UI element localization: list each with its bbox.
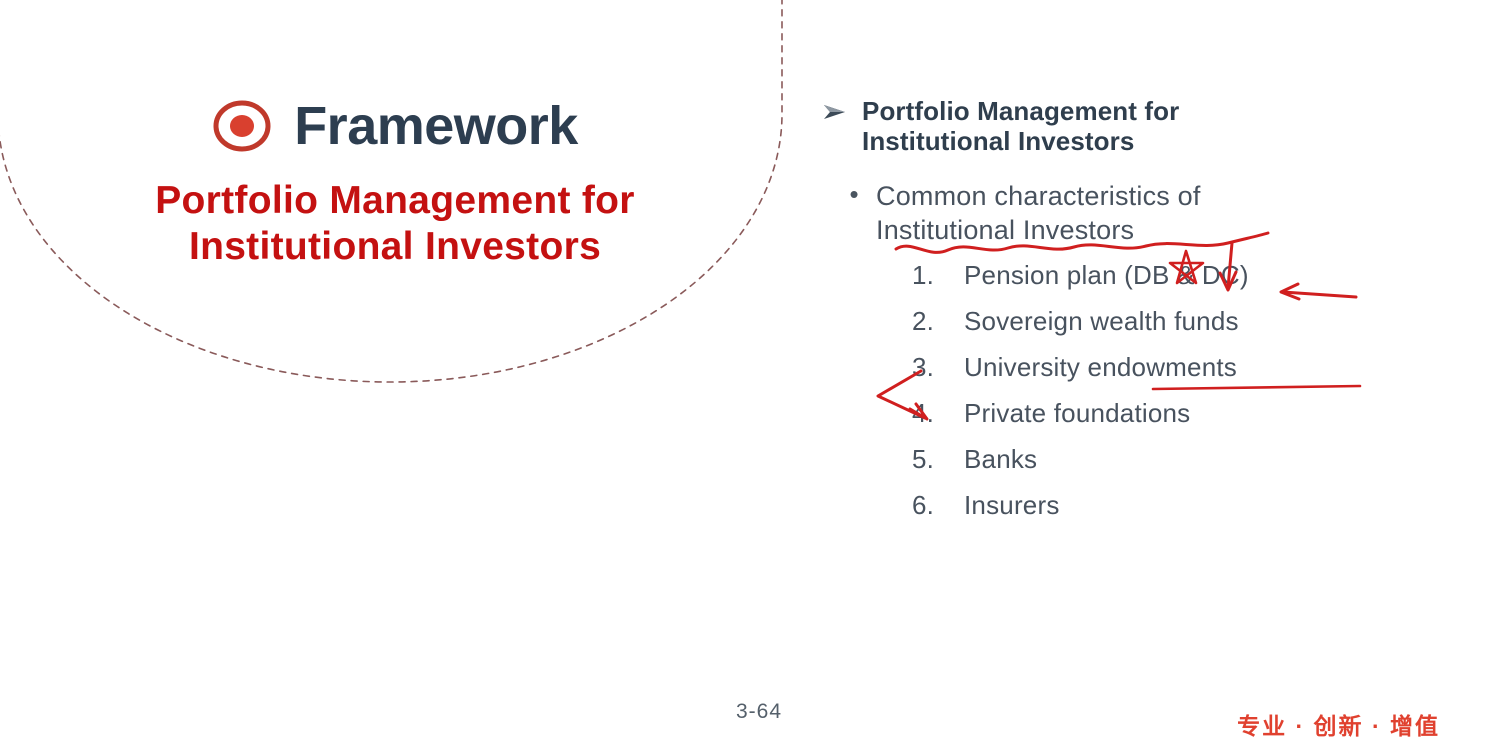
level1-heading: Portfolio Management for Institutional I…: [862, 96, 1179, 157]
list-item-number: 6.: [912, 492, 964, 518]
level2-line2: Institutional Investors: [876, 213, 1201, 248]
list-item-label: Insurers: [964, 492, 1482, 518]
level1-line2: Institutional Investors: [862, 126, 1179, 156]
list-item: 1. Pension plan (DB & DC): [912, 262, 1482, 288]
list-item-label: University endowments: [964, 354, 1482, 380]
level1-line1: Portfolio Management for: [862, 96, 1179, 126]
left-subtitle-line1: Portfolio Management for: [155, 179, 635, 222]
page-title: Framework: [294, 99, 578, 153]
page-number: 3-64: [736, 700, 782, 724]
arrow-bullet-icon: [822, 102, 848, 122]
list-item: 4. Private foundations: [912, 400, 1482, 426]
list-item-number: 2.: [912, 308, 964, 334]
right-content-column: Portfolio Management for Institutional I…: [822, 96, 1482, 538]
dot-bullet-icon: •: [848, 179, 860, 210]
list-item-label: Sovereign wealth funds: [964, 308, 1482, 334]
list-item: 3. University endowments: [912, 354, 1482, 380]
list-item-number: 4.: [912, 400, 964, 426]
list-item-label: Private foundations: [964, 400, 1482, 426]
bullseye-icon: [212, 96, 272, 156]
list-item-label: Pension plan (DB & DC): [964, 262, 1482, 288]
level2-bullet-row: • Common characteristics of Institutiona…: [848, 179, 1482, 248]
list-item: 6. Insurers: [912, 492, 1482, 518]
level2-text: Common characteristics of Institutional …: [876, 179, 1201, 248]
framework-heading-row: Framework: [0, 96, 790, 156]
left-subtitle: Portfolio Management for Institutional I…: [0, 178, 790, 270]
slide-canvas: Framework Portfolio Management for Insti…: [0, 0, 1500, 750]
list-item-number: 1.: [912, 262, 964, 288]
left-subtitle-line2: Institutional Investors: [0, 224, 790, 270]
list-item-number: 3.: [912, 354, 964, 380]
list-item-number: 5.: [912, 446, 964, 472]
list-item: 2. Sovereign wealth funds: [912, 308, 1482, 334]
institutional-investor-list: 1. Pension plan (DB & DC) 2. Sovereign w…: [912, 262, 1482, 518]
brand-slogan: 专业 · 创新 · 增值: [1237, 707, 1440, 741]
left-title-block: Framework Portfolio Management for Insti…: [0, 96, 790, 270]
list-item: 5. Banks: [912, 446, 1482, 472]
list-item-label: Banks: [964, 446, 1482, 472]
level2-line1: Common characteristics of: [876, 181, 1201, 211]
level1-bullet-row: Portfolio Management for Institutional I…: [822, 96, 1482, 157]
